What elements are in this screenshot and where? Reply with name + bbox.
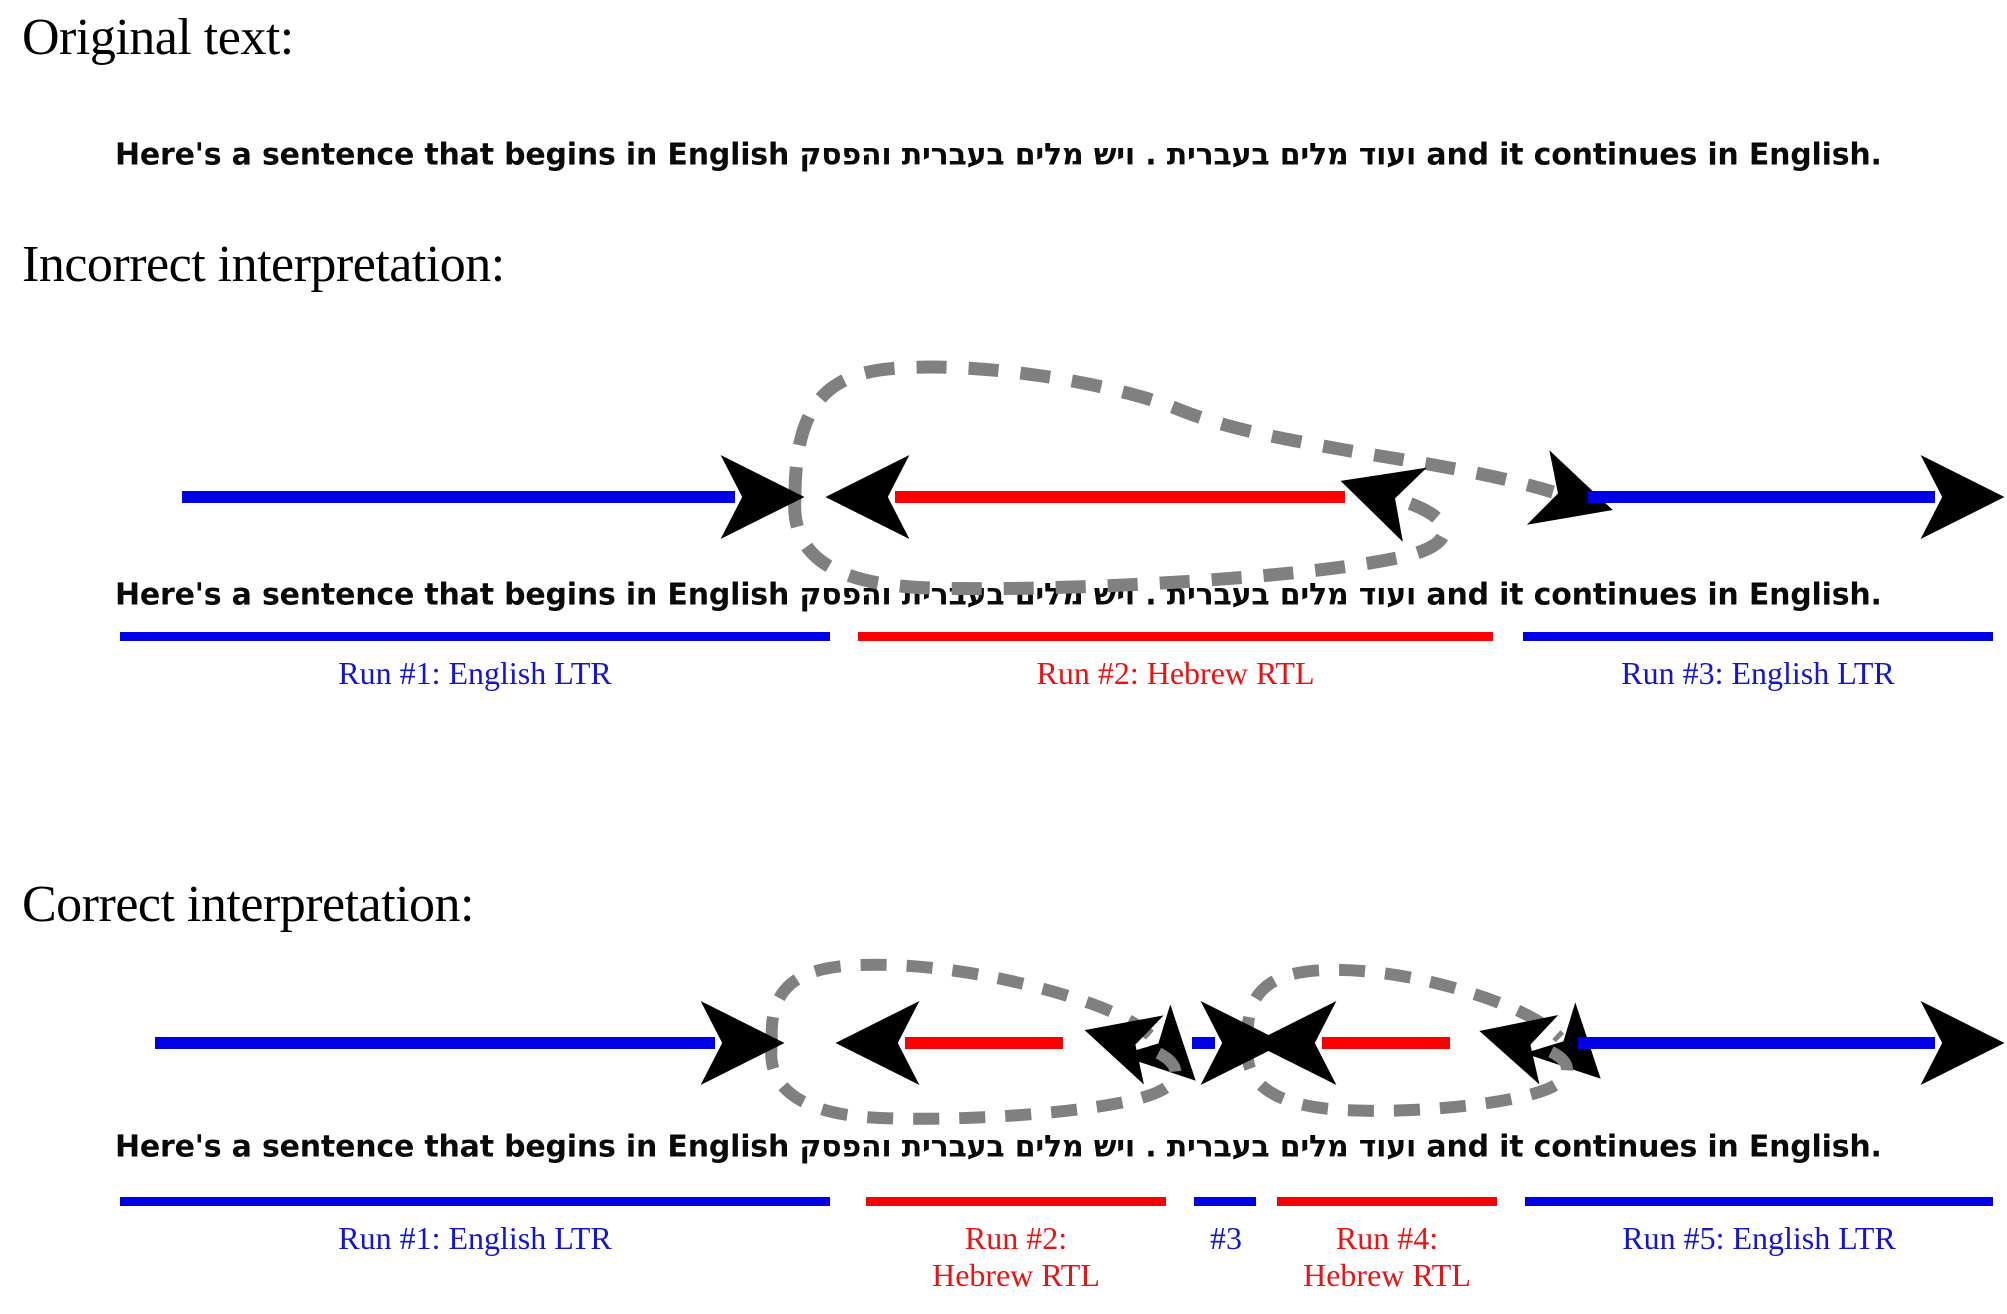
correct-interpretation-heading: Correct interpretation: bbox=[22, 875, 474, 934]
original-text-heading: Original text: bbox=[22, 8, 294, 67]
correct-sentence: Here's a sentence that begins in English… bbox=[115, 1130, 1882, 1165]
correct-run-label-4: Run #4: Hebrew RTL bbox=[1277, 1220, 1497, 1294]
correct-loop2-bottom-dashed-path bbox=[1247, 1043, 1567, 1111]
correct-run-bar-5 bbox=[1525, 1197, 1993, 1206]
correct-run-label-1: Run #1: English LTR bbox=[120, 1220, 830, 1257]
correct-run-bar-4 bbox=[1277, 1197, 1497, 1206]
incorrect-run-label-1: Run #1: English LTR bbox=[120, 655, 830, 692]
correct-run-label-2: Run #2: Hebrew RTL bbox=[866, 1220, 1166, 1294]
original-sentence: Here's a sentence that begins in English… bbox=[115, 138, 1882, 173]
incorrect-loop-top-dashed-path bbox=[795, 367, 1553, 497]
diagram-canvas: Original text: Here's a sentence that be… bbox=[0, 0, 2007, 1314]
incorrect-interpretation-heading: Incorrect interpretation: bbox=[22, 235, 505, 294]
incorrect-sentence: Here's a sentence that begins in English… bbox=[115, 578, 1882, 613]
incorrect-run-bar-1 bbox=[120, 632, 830, 641]
correct-loop2-top-dashed-path bbox=[1248, 970, 1560, 1043]
correct-loop1-bottom-dashed-path bbox=[771, 1043, 1175, 1119]
correct-loop1-top-dashed-path bbox=[772, 965, 1155, 1043]
correct-run-bar-3 bbox=[1194, 1197, 1256, 1206]
incorrect-arrow-diagram bbox=[182, 367, 1935, 589]
incorrect-run-bar-3 bbox=[1523, 632, 1993, 641]
incorrect-loop-bottom-dashed-path bbox=[795, 497, 1444, 589]
incorrect-run-bar-2 bbox=[858, 632, 1493, 641]
correct-run-bar-1 bbox=[120, 1197, 830, 1206]
correct-run-label-5: Run #5: English LTR bbox=[1525, 1220, 1993, 1257]
incorrect-run-label-3: Run #3: English LTR bbox=[1523, 655, 1993, 692]
incorrect-run-label-2: Run #2: Hebrew RTL bbox=[858, 655, 1493, 692]
correct-run-bar-2 bbox=[866, 1197, 1166, 1206]
correct-arrow-diagram bbox=[155, 965, 1935, 1119]
correct-run-label-3: #3 bbox=[1186, 1220, 1266, 1257]
